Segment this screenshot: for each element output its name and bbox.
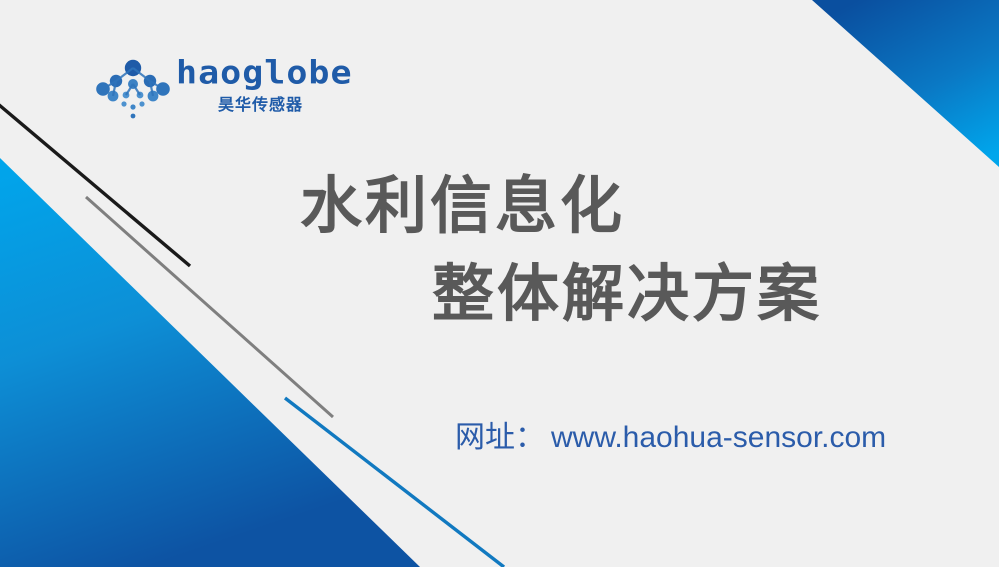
diagonal-line-black [0,104,190,266]
logo-wordmark: haoglobe [176,55,353,92]
haoglobe-network-logo-mark [96,59,170,121]
diagonal-line-gray [86,197,333,417]
slide-title: 水利信息化 整体解决方案 [300,162,920,338]
logo-subtitle: 昊华传感器 [218,96,303,114]
top-right-triangle [812,0,999,167]
title-line-1: 水利信息化 [300,162,920,250]
website-label: 网址： [455,418,545,458]
presentation-title-slide: haoglobe 昊华传感器 水利信息化 整体解决方案 网址： www.haoh… [0,0,999,567]
company-logo: haoglobe 昊华传感器 [96,55,326,125]
title-line-2: 整体解决方案 [432,250,920,338]
website-url[interactable]: www.haohua-sensor.com [551,418,886,458]
website-line: 网址： www.haohua-sensor.com [455,418,886,458]
